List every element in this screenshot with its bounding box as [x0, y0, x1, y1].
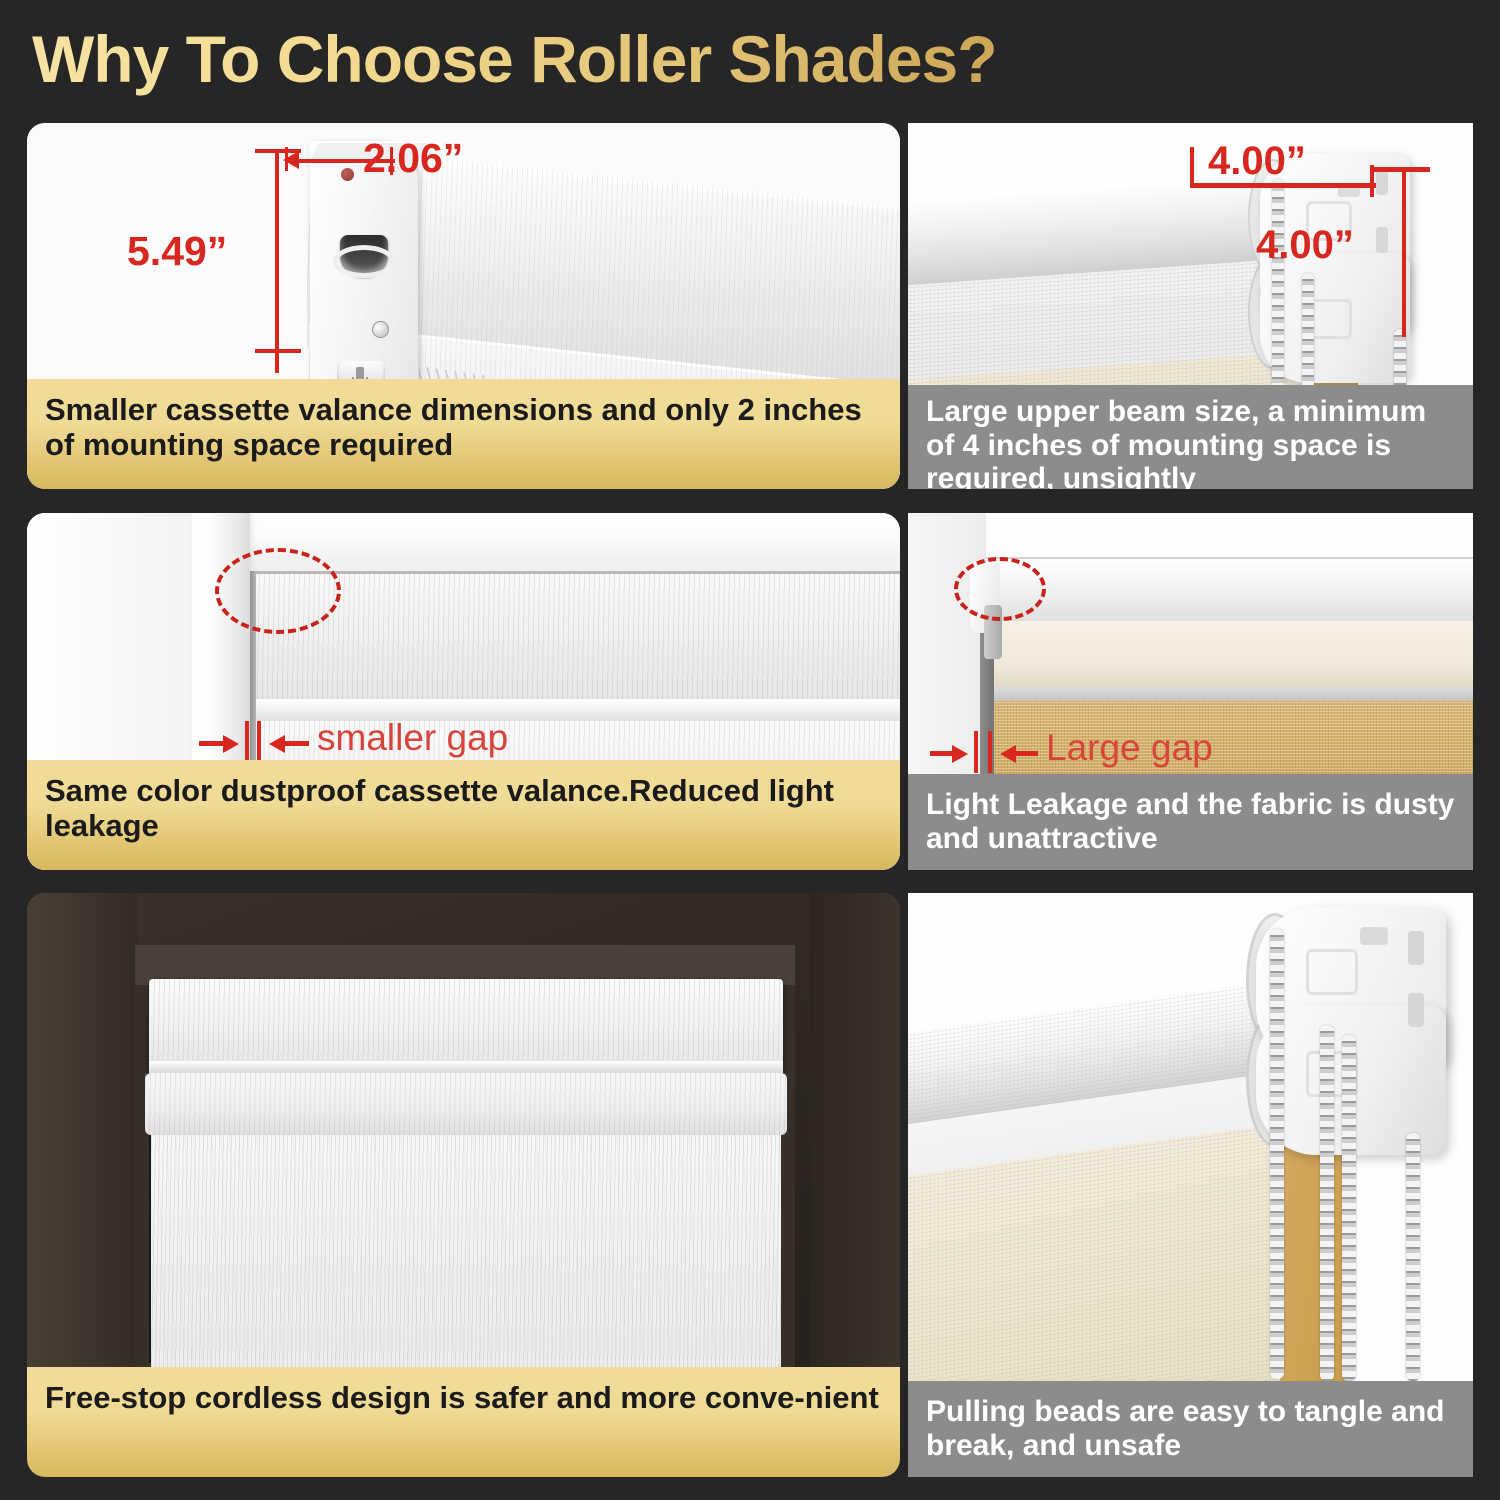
caption-bottom-right: Pulling beads are easy to tangle and bre…	[908, 1381, 1473, 1477]
gap-arrow-shaft-right	[283, 741, 309, 746]
bead-chain	[1272, 179, 1284, 389]
caption-bottom-left: Free-stop cordless design is safer and m…	[27, 1367, 900, 1477]
gap-tick-b	[988, 731, 992, 773]
gap-arrow-shaft-left	[199, 741, 225, 746]
height-dim-tick-bottom	[255, 349, 301, 353]
panel-middle-left: smaller gap Same color dustproof cassett…	[27, 513, 900, 870]
beam-width-label: 4.00”	[1208, 139, 1306, 184]
height-dim-line	[275, 151, 279, 373]
panel-middle-right: Large gap Light Leakage and the fabric i…	[908, 513, 1473, 870]
beam-height-tick-top	[1374, 167, 1430, 172]
caption-top-left: Smaller cassette valance dimensions and …	[27, 379, 900, 489]
height-dim-tick-top	[255, 149, 301, 153]
gap-arrow-shaft-right	[1014, 751, 1038, 756]
width-dim-arrow-left	[283, 151, 299, 169]
beam-height-line	[1402, 167, 1406, 337]
panel-bottom-right: Pulling beads are easy to tangle and bre…	[908, 893, 1473, 1477]
beam-width-tick-left	[1190, 147, 1194, 187]
bead-chain	[1302, 273, 1314, 391]
panel-top-right: 4.00” 4.00” Large upper beam size, a min…	[908, 123, 1473, 489]
highlight-ellipse-icon	[215, 548, 341, 634]
gap-arrow-shaft-left	[930, 751, 954, 756]
gap-label-smaller: smaller gap	[317, 717, 508, 759]
width-dimension-label: 2.06”	[363, 135, 463, 182]
gap-arrow-right	[223, 735, 239, 753]
height-dimension-label: 5.49”	[127, 228, 227, 275]
bead-chain	[1342, 1035, 1356, 1381]
gap-label-large: Large gap	[1046, 727, 1213, 769]
bead-chain	[1320, 1025, 1334, 1381]
gap-arrow-right	[952, 745, 968, 763]
bead-chain	[1406, 1133, 1420, 1381]
panel-top-left: 2.06” 5.49” Smaller cassette valance dim…	[27, 123, 900, 489]
bead-chain	[1270, 929, 1284, 1379]
highlight-ellipse-icon	[954, 557, 1046, 621]
page-title: Why To Choose Roller Shades?	[32, 18, 1332, 100]
gap-tick-b	[257, 721, 261, 761]
gap-tick-a	[245, 721, 249, 761]
panel-bottom-left: Free-stop cordless design is safer and m…	[27, 893, 900, 1477]
caption-middle-right: Light Leakage and the fabric is dusty an…	[908, 774, 1473, 870]
caption-top-right: Large upper beam size, a minimum of 4 in…	[908, 385, 1473, 489]
caption-middle-left: Same color dustproof cassette valance.Re…	[27, 760, 900, 870]
beam-height-label: 4.00”	[1256, 223, 1354, 268]
bead-chain	[1394, 329, 1406, 391]
gap-tick-a	[974, 731, 978, 773]
